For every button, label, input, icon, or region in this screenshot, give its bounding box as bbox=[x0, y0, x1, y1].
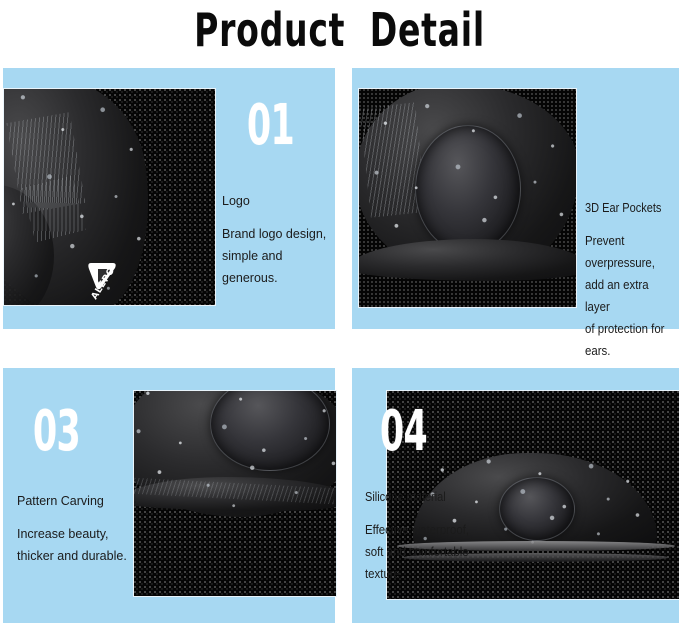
water-droplets bbox=[3, 88, 154, 306]
water-droplets bbox=[133, 390, 337, 513]
product-photo-01: ALEPO bbox=[3, 88, 216, 306]
panel-heading-01: Logo bbox=[222, 194, 250, 209]
panel-number-04: 04 bbox=[380, 404, 427, 460]
feature-panel-03: 03 Pattern Carving Increase beauty, thic… bbox=[3, 368, 335, 623]
panel-body-03: Increase beauty, thicker and durable. bbox=[17, 523, 127, 567]
panel-body-01: Brand logo design, simple and generous. bbox=[222, 223, 335, 289]
feature-panel-02: 02 3D Ear Pockets Prevent overpressure, … bbox=[352, 68, 679, 329]
feature-panel-01: ALEPO 01 Logo Brand logo design, simple … bbox=[3, 68, 335, 329]
product-photo-02 bbox=[358, 88, 577, 308]
feature-panel-04: 04 Silicone material Effective waterproo… bbox=[352, 368, 679, 623]
panel-number-03: 03 bbox=[33, 404, 80, 460]
page-title: Product Detail bbox=[95, 2, 584, 58]
panel-heading-04: Silicone material bbox=[365, 490, 446, 505]
panel-heading-03: Pattern Carving bbox=[17, 494, 104, 509]
product-photo-03 bbox=[133, 390, 337, 597]
panel-heading-02: 3D Ear Pockets bbox=[585, 201, 661, 216]
panel-body-04: Effective waterproof, soft and comfortab… bbox=[365, 519, 469, 585]
cap-lower-edge bbox=[358, 239, 577, 281]
panel-number-01: 01 bbox=[247, 98, 294, 154]
panel-body-02: Prevent overpressure, add an extra layer… bbox=[585, 230, 668, 362]
